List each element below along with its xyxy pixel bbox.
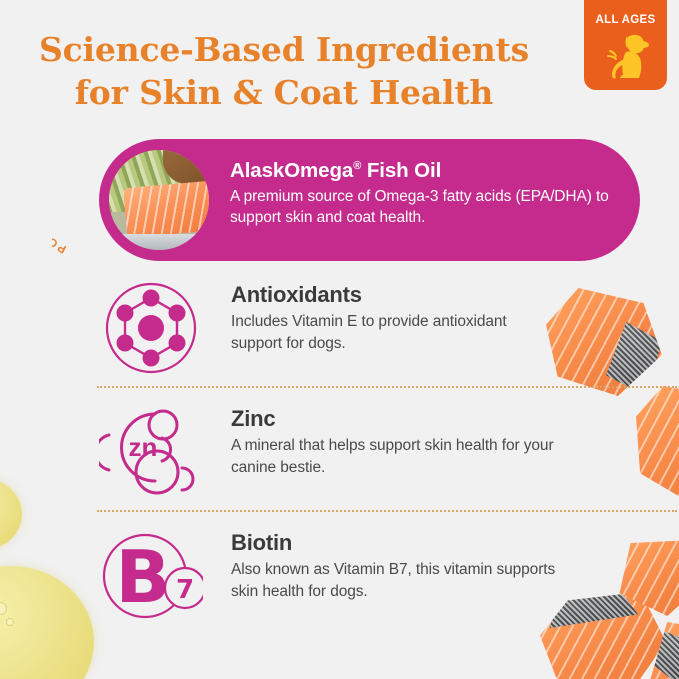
ingredient-title: Biotin [231,528,561,558]
zinc-symbol-label: zn [129,432,158,462]
salmon-fillet [123,180,209,238]
page-title-line-2: for Skin & Coat Health [0,71,568,114]
page-title-line-1: Science-Based Ingredients [39,30,529,69]
molecule-icon [99,278,203,378]
ingredient-title: Antioxidants [231,280,561,310]
salmon-chunk [614,540,679,616]
ingredient-description: Also known as Vitamin B7, this vitamin s… [231,559,561,603]
biotin-b7-icon: B 7 [99,526,203,626]
serving-tray [117,234,207,250]
ingredient-copy: Biotin Also known as Vitamin B7, this vi… [231,528,561,603]
featured-ingredient-title: AlaskOmega® Fish Oil [230,157,622,184]
ingredient-row-biotin: B 7 Biotin Also known as Vitamin B7, thi… [0,524,560,628]
page-title: Science-Based Ingredients for Skin & Coa… [0,28,568,114]
svg-text:POWERED BY: POWERED BY [52,162,68,255]
salmon-chunk [546,288,662,396]
ingredient-row-zinc: zn Zinc A mineral that helps support ski… [0,400,560,504]
infographic-page: Science-Based Ingredients for Skin & Coa… [0,0,679,679]
salmon-chunk [648,622,679,679]
section-divider [97,510,677,512]
powered-by-text: POWERED BY [52,162,68,255]
featured-ingredient-description: A premium source of Omega-3 fatty acids … [230,186,622,228]
all-ages-badge: ALL AGES [584,0,667,90]
featured-ingredient-banner: AlaskOmega® Fish Oil A premium source of… [99,139,640,261]
fish-oil-photo [109,150,209,250]
ingredient-copy: Zinc A mineral that helps support skin h… [231,404,561,479]
biotin-number-label: 7 [176,575,194,605]
all-ages-badge-label: ALL AGES [584,14,667,26]
ingredient-description: A mineral that helps support skin health… [231,435,561,479]
featured-title-suffix: Fish Oil [361,159,441,182]
ingredient-title: Zinc [231,404,561,434]
featured-brand-name: AlaskOmega [230,159,353,182]
salmon-chunk [636,386,679,504]
ingredient-copy: Antioxidants Includes Vitamin E to provi… [231,280,561,355]
featured-ingredient-copy: AlaskOmega® Fish Oil A premium source of… [230,157,622,228]
biotin-letter-label: B [116,535,171,619]
ingredient-description: Includes Vitamin E to provide antioxidan… [231,311,561,355]
section-divider [97,386,677,388]
zinc-atom-icon: zn [99,402,203,502]
sitting-dog-icon [602,32,650,82]
ingredient-row-antioxidants: Antioxidants Includes Vitamin E to provi… [0,276,560,380]
